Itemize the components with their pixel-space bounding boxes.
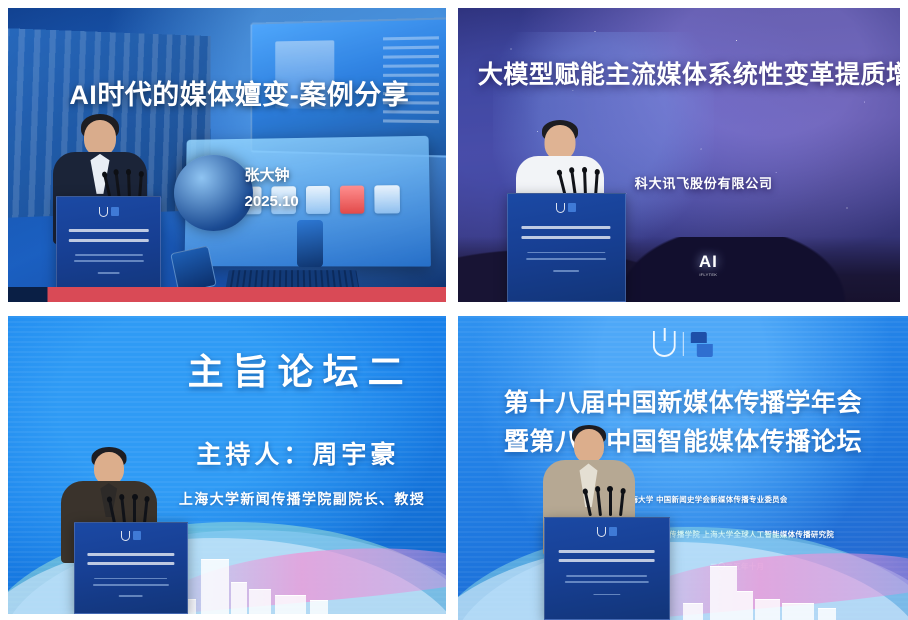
podium-title-line-2 — [87, 562, 174, 565]
podium-date-line — [593, 594, 620, 596]
ai-watermark-text: AI — [699, 252, 718, 271]
speaker-head — [574, 429, 604, 463]
podium-subtitle-line-2 — [564, 581, 648, 583]
podium — [56, 196, 161, 302]
podium-subtitle-line-2 — [93, 584, 169, 586]
podium-date-line — [118, 595, 143, 597]
slide-title: 大模型赋能主流媒体系统性变革提质增效 — [478, 55, 900, 91]
ai-watermark-subtext: iFLYTEK — [699, 272, 718, 277]
smart-media-mark-icon — [691, 332, 713, 357]
stage-floor-strip — [8, 287, 446, 302]
podium-subtitle-line-1 — [528, 252, 605, 254]
podium-title-line-2 — [558, 559, 655, 562]
podium — [544, 517, 670, 620]
podium-title-line-2 — [69, 239, 149, 242]
panel-bottom-left[interactable]: 主旨论坛二 主持人：周宇豪 上海大学新闻传播学院副院长、教授 — [8, 316, 446, 614]
forum-title: 主旨论坛二 — [188, 343, 413, 395]
podium-subtitle-line-2 — [74, 260, 144, 262]
podium-title-line-1 — [87, 553, 174, 556]
podium-logo-icon — [121, 531, 141, 541]
forum-host-affiliation: 上海大学新闻传播学院副院长、教授 — [179, 489, 425, 509]
podium-subtitle-line-2 — [526, 258, 606, 260]
podium-title-line-1 — [558, 550, 655, 553]
conference-title-line-1: 第十八届中国新媒体传播学年会 — [504, 383, 862, 419]
handheld-device-graphic — [297, 220, 323, 267]
podium-date-line — [97, 272, 120, 274]
slide-date: 2025.10 — [245, 193, 299, 210]
speaker-head — [84, 120, 116, 156]
photo-collage-grid: AI时代的媒体嬗变-案例分享 张大钟 2025.10 — [0, 0, 908, 620]
speaker-head — [544, 125, 575, 160]
panel-bottom-right[interactable]: 第十八届中国新媒体传播学年会 暨第八届中国智能媒体传播论坛 主办单位：上海大学 … — [458, 316, 908, 620]
podium-subtitle-line-1 — [94, 578, 168, 580]
podium-date-line — [553, 270, 579, 272]
podium-title-line-1 — [69, 229, 149, 232]
slide-speaker-name: 张大钟 — [245, 164, 290, 185]
podium-logo-icon — [99, 207, 119, 217]
podium-logo-icon — [597, 527, 617, 537]
podium-title-line-1 — [522, 226, 611, 229]
decorative-wave-art — [458, 523, 908, 620]
microphone-cluster — [589, 486, 651, 516]
forum-host: 主持人：周宇豪 — [196, 435, 399, 471]
podium-logo-icon — [556, 203, 576, 213]
conference-logo-icon — [653, 331, 713, 357]
city-skyline-graphic — [458, 523, 908, 620]
ai-watermark: AI iFLYTEK — [699, 252, 718, 277]
podium — [74, 522, 188, 614]
logo-divider — [683, 332, 684, 356]
slide-organization: 科大讯飞股份有限公司 — [635, 173, 773, 192]
podium — [507, 193, 626, 302]
panel-top-left[interactable]: AI时代的媒体嬗变-案例分享 张大钟 2025.10 — [8, 8, 446, 302]
slide-title: AI时代的媒体嬗变-案例分享 — [69, 73, 409, 112]
podium-subtitle-line-1 — [566, 575, 648, 577]
shanghai-university-u-icon — [653, 331, 676, 357]
panel-top-right[interactable]: 大模型赋能主流媒体系统性变革提质增效 科大讯飞股份有限公司 AI iFLYTEK — [458, 8, 900, 302]
microphone-cluster — [113, 495, 175, 523]
podium-subtitle-line-1 — [75, 254, 143, 256]
podium-title-line-2 — [522, 236, 611, 239]
